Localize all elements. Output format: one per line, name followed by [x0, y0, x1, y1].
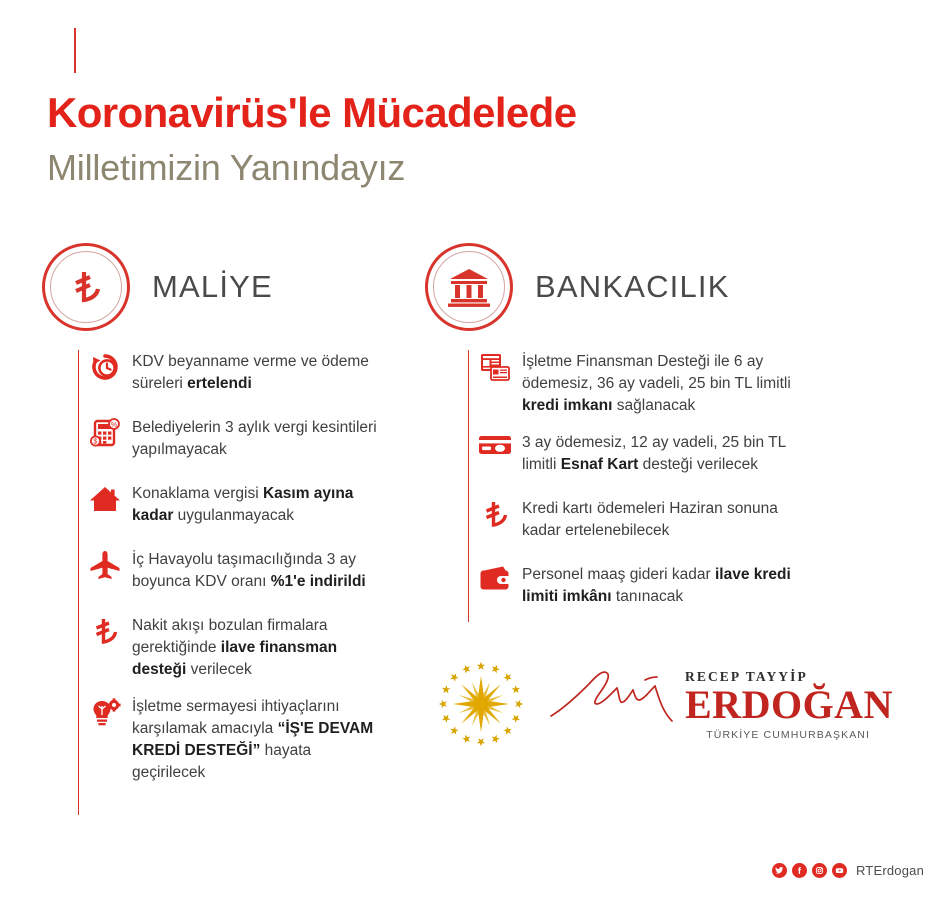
airplane-icon [78, 548, 132, 580]
president-title: TÜRKİYE CUMHURBAŞKANI [685, 729, 870, 741]
wallet-icon [468, 563, 522, 591]
bankacilik-item-list: İşletme Finansman Desteği ile 6 ay ödeme… [468, 350, 828, 615]
credit-card-icon [468, 431, 522, 457]
lightbulb-gear-icon [78, 695, 132, 729]
bankacilik-column: İşletme Finansman Desteği ile 6 ay ödeme… [468, 350, 828, 629]
list-item-text: İç Havayolu taşımacılığında 3 ay boyunca… [132, 548, 380, 593]
section-title-maliye: MALİYE [152, 269, 273, 305]
list-item-text: 3 ay ödemesiz, 12 ay vadeli, 25 bin TL l… [522, 431, 810, 476]
section-title-bankacilik: BANKACILIK [535, 269, 730, 305]
list-item: İşletme sermayesi ihtiyaçlarını karşılam… [78, 695, 408, 784]
youtube-icon[interactable] [832, 863, 847, 878]
turkish-lira-icon [78, 614, 132, 646]
list-item: İç Havayolu taşımacılığında 3 ay boyunca… [78, 548, 408, 600]
handwritten-signature-icon [545, 666, 695, 726]
list-item: Personel maaş gideri kadar ilave kredi l… [468, 563, 828, 615]
turkish-lira-icon [468, 497, 522, 529]
column-divider-left [78, 350, 79, 815]
facebook-icon[interactable] [792, 863, 807, 878]
list-item: Konaklama vergisi Kasım ayına kadar uygu… [78, 482, 408, 534]
svg-text:$: $ [94, 439, 98, 446]
presidential-seal-icon [437, 660, 525, 748]
list-item: İşletme Finansman Desteği ile 6 ay ödeme… [468, 350, 828, 417]
list-item-text: Konaklama vergisi Kasım ayına kadar uygu… [132, 482, 380, 527]
list-item: Kredi kartı ödemeleri Haziran sonuna kad… [468, 497, 828, 549]
list-item: Nakit akışı bozulan firmalara gerektiğin… [78, 614, 408, 681]
list-item-text: KDV beyanname verme ve ödeme süreleri er… [132, 350, 380, 395]
list-item-text: İşletme Finansman Desteği ile 6 ay ödeme… [522, 350, 810, 417]
president-surname: ERDOĞAN [685, 685, 893, 725]
list-item-text: Belediyelerin 3 aylık vergi kesintileri … [132, 416, 380, 461]
svg-text:%: % [111, 422, 117, 429]
list-item: KDV beyanname verme ve ödeme süreleri er… [78, 350, 408, 402]
president-name-block: RECEP TAYYİP ERDOĞAN TÜRKİYE CUMHURBAŞKA… [685, 670, 893, 741]
column-divider-right [468, 350, 469, 622]
maliye-item-list: KDV beyanname verme ve ödeme süreleri er… [78, 350, 408, 784]
list-item: % $ Belediyelerin 3 aylık vergi kesintil… [78, 416, 408, 468]
turkish-lira-icon [42, 243, 130, 331]
page-subtitle: Milletimizin Yanındayız [47, 150, 405, 186]
signature-block: RECEP TAYYİP ERDOĞAN TÜRKİYE CUMHURBAŞKA… [437, 660, 830, 748]
list-item: 3 ay ödemesiz, 12 ay vadeli, 25 bin TL l… [468, 431, 828, 483]
instagram-icon[interactable] [812, 863, 827, 878]
calculator-icon: % $ [78, 416, 132, 448]
signature-area: RECEP TAYYİP ERDOĞAN TÜRKİYE CUMHURBAŞKA… [545, 660, 830, 748]
list-item-text: Nakit akışı bozulan firmalara gerektiğin… [132, 614, 380, 681]
maliye-column: KDV beyanname verme ve ödeme süreleri er… [78, 350, 408, 798]
list-item-text: Personel maaş gideri kadar ilave kredi l… [522, 563, 810, 608]
twitter-icon[interactable] [772, 863, 787, 878]
list-item-text: Kredi kartı ödemeleri Haziran sonuna kad… [522, 497, 810, 542]
list-item-text: İşletme sermayesi ihtiyaçlarını karşılam… [132, 695, 380, 784]
invoice-documents-icon [468, 350, 522, 382]
social-handle: RTErdogan [856, 863, 924, 878]
section-heading-maliye: MALİYE [42, 243, 273, 331]
clock-rewind-icon [78, 350, 132, 382]
infographic-page: Koronavirüs'le Mücadelede Milletimizin Y… [0, 0, 946, 900]
title-accent-rule [74, 28, 76, 73]
section-heading-bankacilik: BANKACILIK [425, 243, 730, 331]
house-icon [78, 482, 132, 514]
page-title: Koronavirüs'le Mücadelede [47, 92, 576, 134]
bank-building-icon [425, 243, 513, 331]
social-footer: RTErdogan [772, 863, 924, 878]
